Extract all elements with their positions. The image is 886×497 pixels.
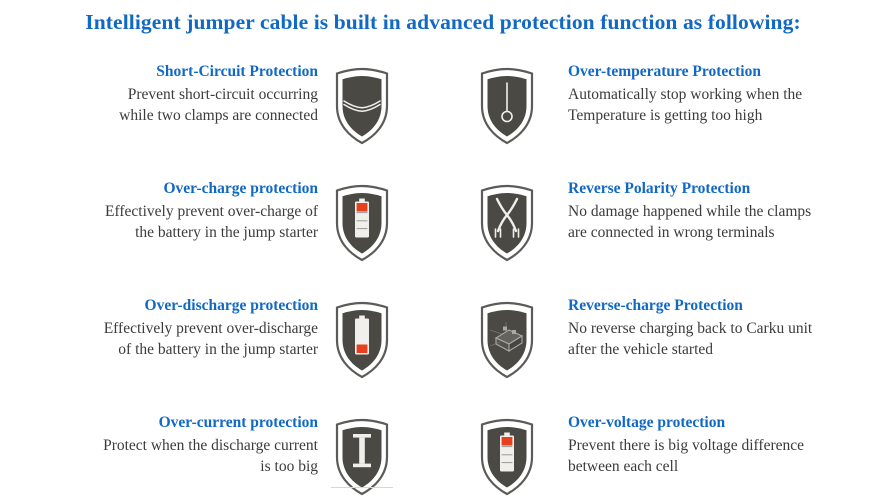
feature-cell-left: Over-discharge protection Effectively pr… — [8, 296, 318, 360]
feature-desc-line: are connected in wrong terminals — [568, 222, 878, 243]
shield-car-battery-icon — [476, 300, 538, 380]
feature-title: Reverse-charge Protection — [568, 296, 878, 316]
feature-row: Over-current protection Protect when the… — [0, 413, 886, 490]
feature-title: Over-charge protection — [8, 179, 318, 199]
shield-battery-full-icon — [331, 183, 393, 263]
shield-thermometer-icon — [476, 66, 538, 146]
feature-desc-line: while two clamps are connected — [8, 105, 318, 126]
feature-cell-left: Over-current protection Protect when the… — [8, 413, 318, 477]
feature-desc-line: is too big — [8, 456, 318, 477]
feature-title: Over-voltage protection — [568, 413, 878, 433]
feature-cell-left: Short-Circuit Protection Prevent short-c… — [8, 62, 318, 126]
feature-cell-left: Over-charge protection Effectively preve… — [8, 179, 318, 243]
feature-row: Short-Circuit Protection Prevent short-c… — [0, 62, 886, 179]
feature-desc-line: No reverse charging back to Carku unit — [568, 318, 878, 339]
feature-title: Reverse Polarity Protection — [568, 179, 878, 199]
shield-current-i-icon — [331, 417, 393, 497]
feature-desc-line: Automatically stop working when the — [568, 84, 878, 105]
feature-desc-line: Prevent short-circuit occurring — [8, 84, 318, 105]
feature-desc-line: the battery in the jump starter — [8, 222, 318, 243]
feature-desc-line: of the battery in the jump starter — [8, 339, 318, 360]
feature-desc-line: Temperature is getting too high — [568, 105, 878, 126]
shield-battery-full-icon — [476, 417, 538, 497]
feature-desc-line: No damage happened while the clamps — [568, 201, 878, 222]
feature-title: Over-temperature Protection — [568, 62, 878, 82]
feature-desc-line: Protect when the discharge current — [8, 435, 318, 456]
bottom-divider — [331, 487, 393, 488]
feature-title: Over-discharge protection — [8, 296, 318, 316]
feature-cell-right: Over-voltage protection Prevent there is… — [568, 413, 878, 477]
feature-title: Short-Circuit Protection — [8, 62, 318, 82]
page-title: Intelligent jumper cable is built in adv… — [0, 10, 886, 35]
feature-row: Over-discharge protection Effectively pr… — [0, 296, 886, 413]
shield-crossed-clamps-icon — [476, 183, 538, 263]
feature-cell-right: Reverse-charge Protection No reverse cha… — [568, 296, 878, 360]
feature-title: Over-current protection — [8, 413, 318, 433]
feature-desc-line: between each cell — [568, 456, 878, 477]
shield-short-circuit-icon — [331, 66, 393, 146]
feature-desc-line: Effectively prevent over-charge of — [8, 201, 318, 222]
feature-row: Over-charge protection Effectively preve… — [0, 179, 886, 296]
feature-desc-line: Effectively prevent over-discharge — [8, 318, 318, 339]
feature-desc-line: after the vehicle started — [568, 339, 878, 360]
feature-desc-line: Prevent there is big voltage difference — [568, 435, 878, 456]
feature-cell-right: Over-temperature Protection Automaticall… — [568, 62, 878, 126]
protection-features-page: Intelligent jumper cable is built in adv… — [0, 0, 886, 492]
feature-rows: Short-Circuit Protection Prevent short-c… — [0, 62, 886, 490]
shield-battery-low-icon — [331, 300, 393, 380]
feature-cell-right: Reverse Polarity Protection No damage ha… — [568, 179, 878, 243]
